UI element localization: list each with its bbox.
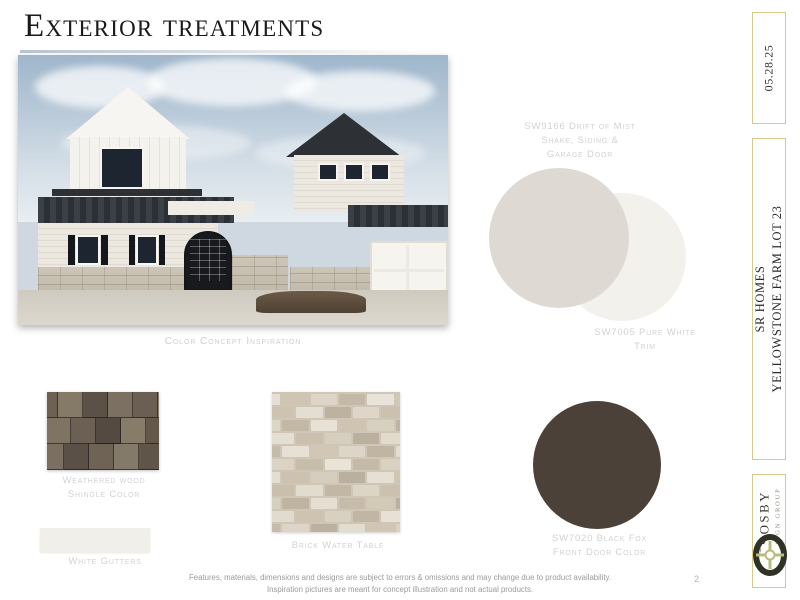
footer-disclaimer: Features, materials, dimensions and desi…	[130, 572, 670, 597]
shutter	[101, 235, 108, 265]
brick-label: Brick Water Table	[268, 539, 408, 553]
sidebar-date-box: 05.28.25	[752, 12, 786, 124]
title-divider	[20, 50, 420, 53]
sidebar-date: 05.28.25	[762, 45, 777, 92]
gutter-swatch	[40, 528, 150, 552]
garage-panel-line	[374, 269, 444, 272]
sidebar-project: SR HOMES YELLOWSTONE FARM LOT 23	[752, 205, 786, 392]
page-title: Exterior treatments	[24, 8, 324, 45]
paint-code: SW9166 Drift of Mist	[470, 120, 690, 134]
shingle-label: Weathered wood Shingle Color	[30, 474, 178, 502]
paint-use-line1: Front Door Color	[512, 546, 687, 560]
material-name-line1: Brick Water Table	[268, 539, 408, 553]
project-client: SR HOMES	[753, 266, 767, 333]
paint-use-line1: Trim	[545, 340, 745, 354]
photo-caption: Color Concept Inspiration	[18, 336, 448, 347]
paint-label-drift-of-mist: SW9166 Drift of Mist Shake, Siding & Gar…	[470, 120, 690, 161]
paint-code: SW7005 Pure White	[545, 326, 745, 340]
window	[318, 163, 338, 181]
right-gable-roof	[286, 113, 402, 157]
shutter	[129, 235, 135, 265]
window	[76, 235, 100, 265]
material-name-line1: Weathered wood	[30, 474, 178, 488]
dirt-mound	[256, 291, 366, 313]
house-illustration	[18, 55, 448, 325]
paint-use-line1: Shake, Siding &	[470, 134, 690, 148]
project-community: YELLOWSTONE FARM LOT 23	[770, 205, 784, 392]
gutter-label: White Gutters	[35, 555, 175, 569]
window	[344, 163, 364, 181]
paint-circle-drift-of-mist	[489, 168, 629, 308]
crosby-logo-icon	[751, 530, 789, 580]
paint-label-pure-white: SW7005 Pure White Trim	[545, 326, 745, 354]
ground	[18, 290, 448, 325]
window	[100, 147, 144, 189]
left-roof-eave	[52, 189, 202, 196]
door-glass	[190, 239, 226, 281]
paint-label-black-fox: SW7020 Black Fox Front Door Color	[512, 532, 687, 560]
shutter	[159, 235, 165, 265]
page-number: 2	[694, 574, 699, 584]
window	[136, 235, 158, 265]
left-gable-roof	[66, 87, 190, 139]
material-name-line2: Shingle Color	[30, 488, 178, 502]
paint-code: SW7020 Black Fox	[512, 532, 687, 546]
slide-canvas: Exterior treatments	[0, 0, 800, 600]
paint-circle-black-fox	[533, 401, 661, 529]
material-name-line1: White Gutters	[35, 555, 175, 569]
shingle-row	[47, 392, 159, 418]
brick-swatch	[272, 392, 400, 532]
shingle-row	[47, 444, 159, 470]
shutter	[68, 235, 75, 265]
sidebar-project-box: SR HOMES YELLOWSTONE FARM LOT 23	[752, 138, 786, 460]
disclaimer-line2: Inspiration pictures are meant for conce…	[130, 584, 670, 596]
entry-gable	[168, 201, 254, 215]
metal-roof	[348, 205, 448, 227]
cloud	[285, 71, 435, 111]
disclaimer-line1: Features, materials, dimensions and desi…	[130, 572, 670, 584]
shingle-row	[47, 418, 159, 444]
window	[370, 163, 390, 181]
paint-use-line2: Garage Door	[470, 148, 690, 162]
shingle-swatch	[47, 392, 159, 470]
inspiration-photo	[18, 55, 448, 325]
